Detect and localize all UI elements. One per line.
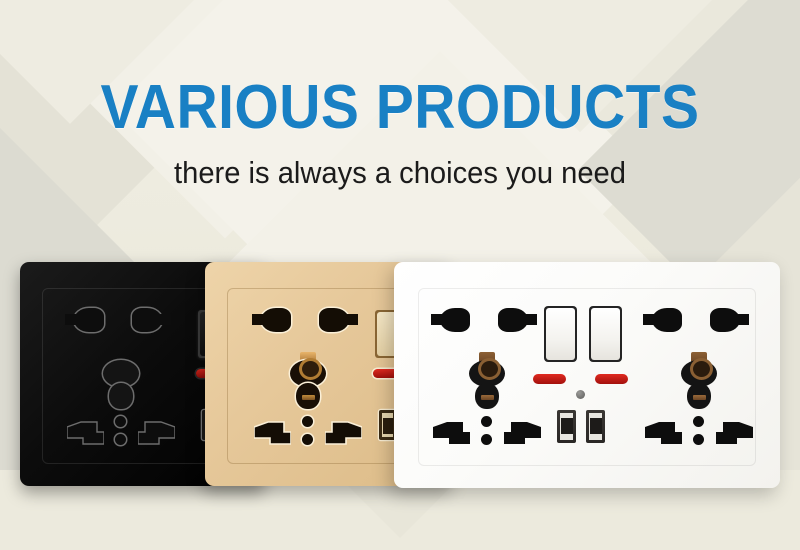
page-title: VARIOUS PRODUCTS — [32, 72, 768, 143]
earth-bar — [481, 395, 494, 400]
earth-lower — [109, 383, 133, 409]
angled-pin-slot-left-icon — [652, 308, 682, 332]
round-pin-hole — [481, 416, 492, 427]
flat-pin-slot-right-icon — [716, 420, 753, 446]
angled-pin-slot-right-icon — [319, 308, 349, 332]
flat-pin-slot-left-icon — [254, 420, 291, 446]
angled-pin-slot-left-icon — [74, 308, 104, 332]
round-pin-hole — [115, 434, 126, 445]
angled-pin-slot-right-icon — [498, 308, 528, 332]
earth-ring — [299, 358, 322, 380]
round-pin-hole — [693, 434, 704, 445]
universal-outlet[interactable] — [249, 308, 367, 458]
flat-pin-slot-right-icon — [138, 420, 175, 446]
earth-pin-assembly — [101, 352, 141, 418]
earth-pin-assembly — [467, 352, 507, 418]
earth-pin-assembly — [679, 352, 719, 418]
universal-outlet[interactable] — [62, 308, 180, 458]
page-subtitle: there is always a choices you need — [24, 155, 776, 191]
earth-pin-assembly — [288, 352, 328, 418]
usb-tongue — [561, 418, 573, 434]
earth-lower — [475, 383, 499, 409]
usb-port[interactable] — [557, 410, 576, 443]
earth-lower — [687, 383, 711, 409]
usb-port[interactable] — [586, 410, 605, 443]
universal-outlet[interactable] — [640, 308, 758, 458]
round-pin-hole — [115, 416, 126, 427]
usb-tongue — [590, 418, 602, 434]
angled-pin-slot-left-icon — [440, 308, 470, 332]
neon-indicator — [533, 374, 566, 384]
flat-pin-slot-left-icon — [433, 420, 470, 446]
round-pin-hole — [481, 434, 492, 445]
rocker-face — [591, 308, 620, 360]
rocker-switch[interactable] — [544, 306, 577, 362]
flat-pin-slot-right-icon — [325, 420, 362, 446]
reset-pinhole-icon — [576, 390, 585, 399]
rocker-face — [546, 308, 575, 360]
angled-pin-slot-left-icon — [261, 308, 291, 332]
universal-outlet[interactable] — [428, 308, 546, 458]
earth-ring — [478, 358, 501, 380]
flat-pin-slot-left-icon — [67, 420, 104, 446]
flat-pin-slot-right-icon — [504, 420, 541, 446]
earth-bar — [693, 395, 706, 400]
round-pin-hole — [302, 434, 313, 445]
earth-lower — [296, 383, 320, 409]
rocker-switch[interactable] — [589, 306, 622, 362]
round-pin-hole — [693, 416, 704, 427]
angled-pin-slot-right-icon — [710, 308, 740, 332]
earth-ring — [690, 358, 713, 380]
promo-banner: VARIOUS PRODUCTS there is always a choic… — [0, 0, 800, 550]
angled-pin-slot-right-icon — [132, 308, 162, 332]
earth-bar — [302, 395, 315, 400]
round-pin-hole — [302, 416, 313, 427]
neon-indicator — [595, 374, 628, 384]
flat-pin-slot-left-icon — [645, 420, 682, 446]
white-socket-panel[interactable] — [394, 262, 780, 488]
usb-tongue — [383, 418, 393, 434]
